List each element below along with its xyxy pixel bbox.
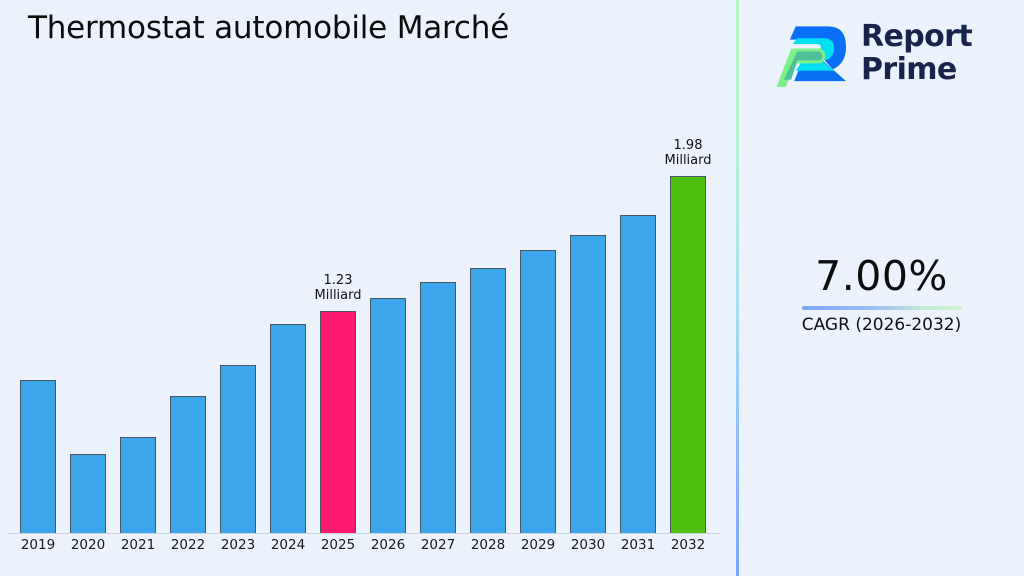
bar-2021[interactable] <box>120 437 156 533</box>
bar-value-label-2032: 1.98 Milliard <box>648 138 728 168</box>
bar-2023[interactable] <box>220 365 256 533</box>
bar-2030[interactable] <box>570 235 606 533</box>
side-panel: Report Prime 7.00% CAGR (2026-2032) <box>739 0 1024 576</box>
bar-2029[interactable] <box>520 250 556 533</box>
bar-2027[interactable] <box>420 282 456 533</box>
bar-2031[interactable] <box>620 215 656 533</box>
bar-value-label-2025: 1.23 Milliard <box>298 273 378 303</box>
x-tick-label-2022: 2022 <box>163 537 213 553</box>
x-tick-label-2029: 2029 <box>513 537 563 553</box>
x-tick-label-2020: 2020 <box>63 537 113 553</box>
bar-chart-plot-area: 2019202020212022202320242025202620272028… <box>0 0 737 576</box>
cagr-value: 7.00% <box>739 252 1024 300</box>
bar-2019[interactable] <box>20 380 56 533</box>
bar-2022[interactable] <box>170 396 206 533</box>
x-tick-label-2028: 2028 <box>463 537 513 553</box>
bar-2020[interactable] <box>70 454 106 533</box>
x-tick-label-2021: 2021 <box>113 537 163 553</box>
x-tick-label-2023: 2023 <box>213 537 263 553</box>
chart-panel: Thermostat automobile Marché 20192020202… <box>0 0 737 576</box>
x-tick-label-2030: 2030 <box>563 537 613 553</box>
cagr-block: 7.00% CAGR (2026-2032) <box>739 252 1024 336</box>
bar-2028[interactable] <box>470 268 506 533</box>
brand-logo: Report Prime <box>775 12 1015 94</box>
bar-2025[interactable] <box>320 311 356 533</box>
bar-2024[interactable] <box>270 324 306 533</box>
x-axis-line <box>8 533 720 534</box>
x-tick-label-2031: 2031 <box>613 537 663 553</box>
bar-2032[interactable] <box>670 176 706 533</box>
report-prime-logo-icon <box>775 16 849 90</box>
brand-name: Report Prime <box>861 20 972 86</box>
x-tick-label-2024: 2024 <box>263 537 313 553</box>
bar-2026[interactable] <box>370 298 406 533</box>
cagr-divider <box>802 306 962 310</box>
x-tick-label-2032: 2032 <box>663 537 713 553</box>
x-tick-label-2019: 2019 <box>13 537 63 553</box>
x-tick-label-2027: 2027 <box>413 537 463 553</box>
cagr-caption: CAGR (2026-2032) <box>739 314 1024 336</box>
x-tick-label-2026: 2026 <box>363 537 413 553</box>
x-tick-label-2025: 2025 <box>313 537 363 553</box>
